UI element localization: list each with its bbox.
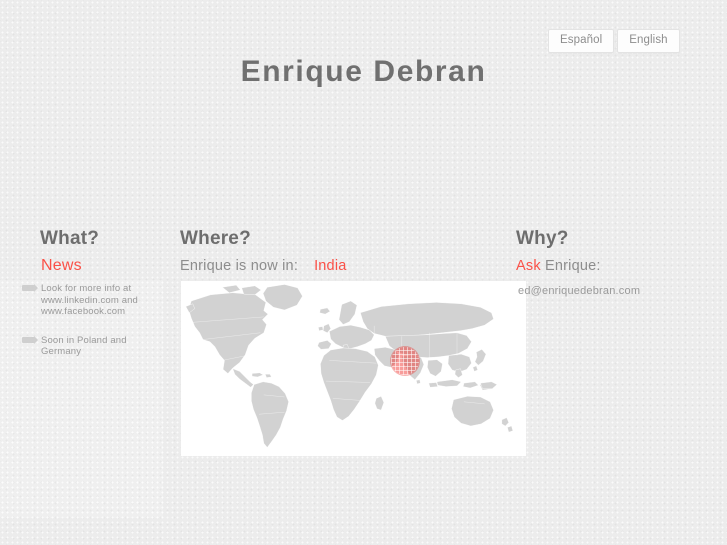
news-link[interactable]: News [41,257,82,275]
lang-button-english[interactable]: English [617,29,679,53]
page-title: Enrique Debran [0,55,727,89]
current-location-line: Enrique is now in:India [180,258,347,274]
arrow-bullet-icon [22,285,35,291]
what-column-heading: What? [40,228,99,250]
lang-button-espanol[interactable]: Español [548,29,614,53]
current-location-prefix: Enrique is now in: [180,258,298,274]
ask-line: Ask Enrique: [516,258,601,274]
list-item: Look for more info at www.linkedin.com a… [22,283,157,318]
list-item-text: Soon in Poland and Germany [41,335,127,358]
ask-rest: Enrique: [541,258,601,274]
where-column-heading: Where? [180,228,251,250]
india-location-marker [391,347,419,375]
email-link[interactable]: ed@enriquedebran.com [518,285,640,297]
ask-word: Ask [516,258,541,274]
list-item: Soon in Poland and Germany [22,335,157,358]
world-map[interactable] [181,281,526,456]
current-location-country: India [314,258,346,274]
arrow-bullet-icon [22,337,35,343]
language-switcher: Español English [548,29,680,53]
news-list: Look for more info at www.linkedin.com a… [22,283,157,375]
why-column-heading: Why? [516,228,569,250]
list-item-text: Look for more info at www.linkedin.com a… [41,283,138,317]
world-map-svg [181,281,526,456]
